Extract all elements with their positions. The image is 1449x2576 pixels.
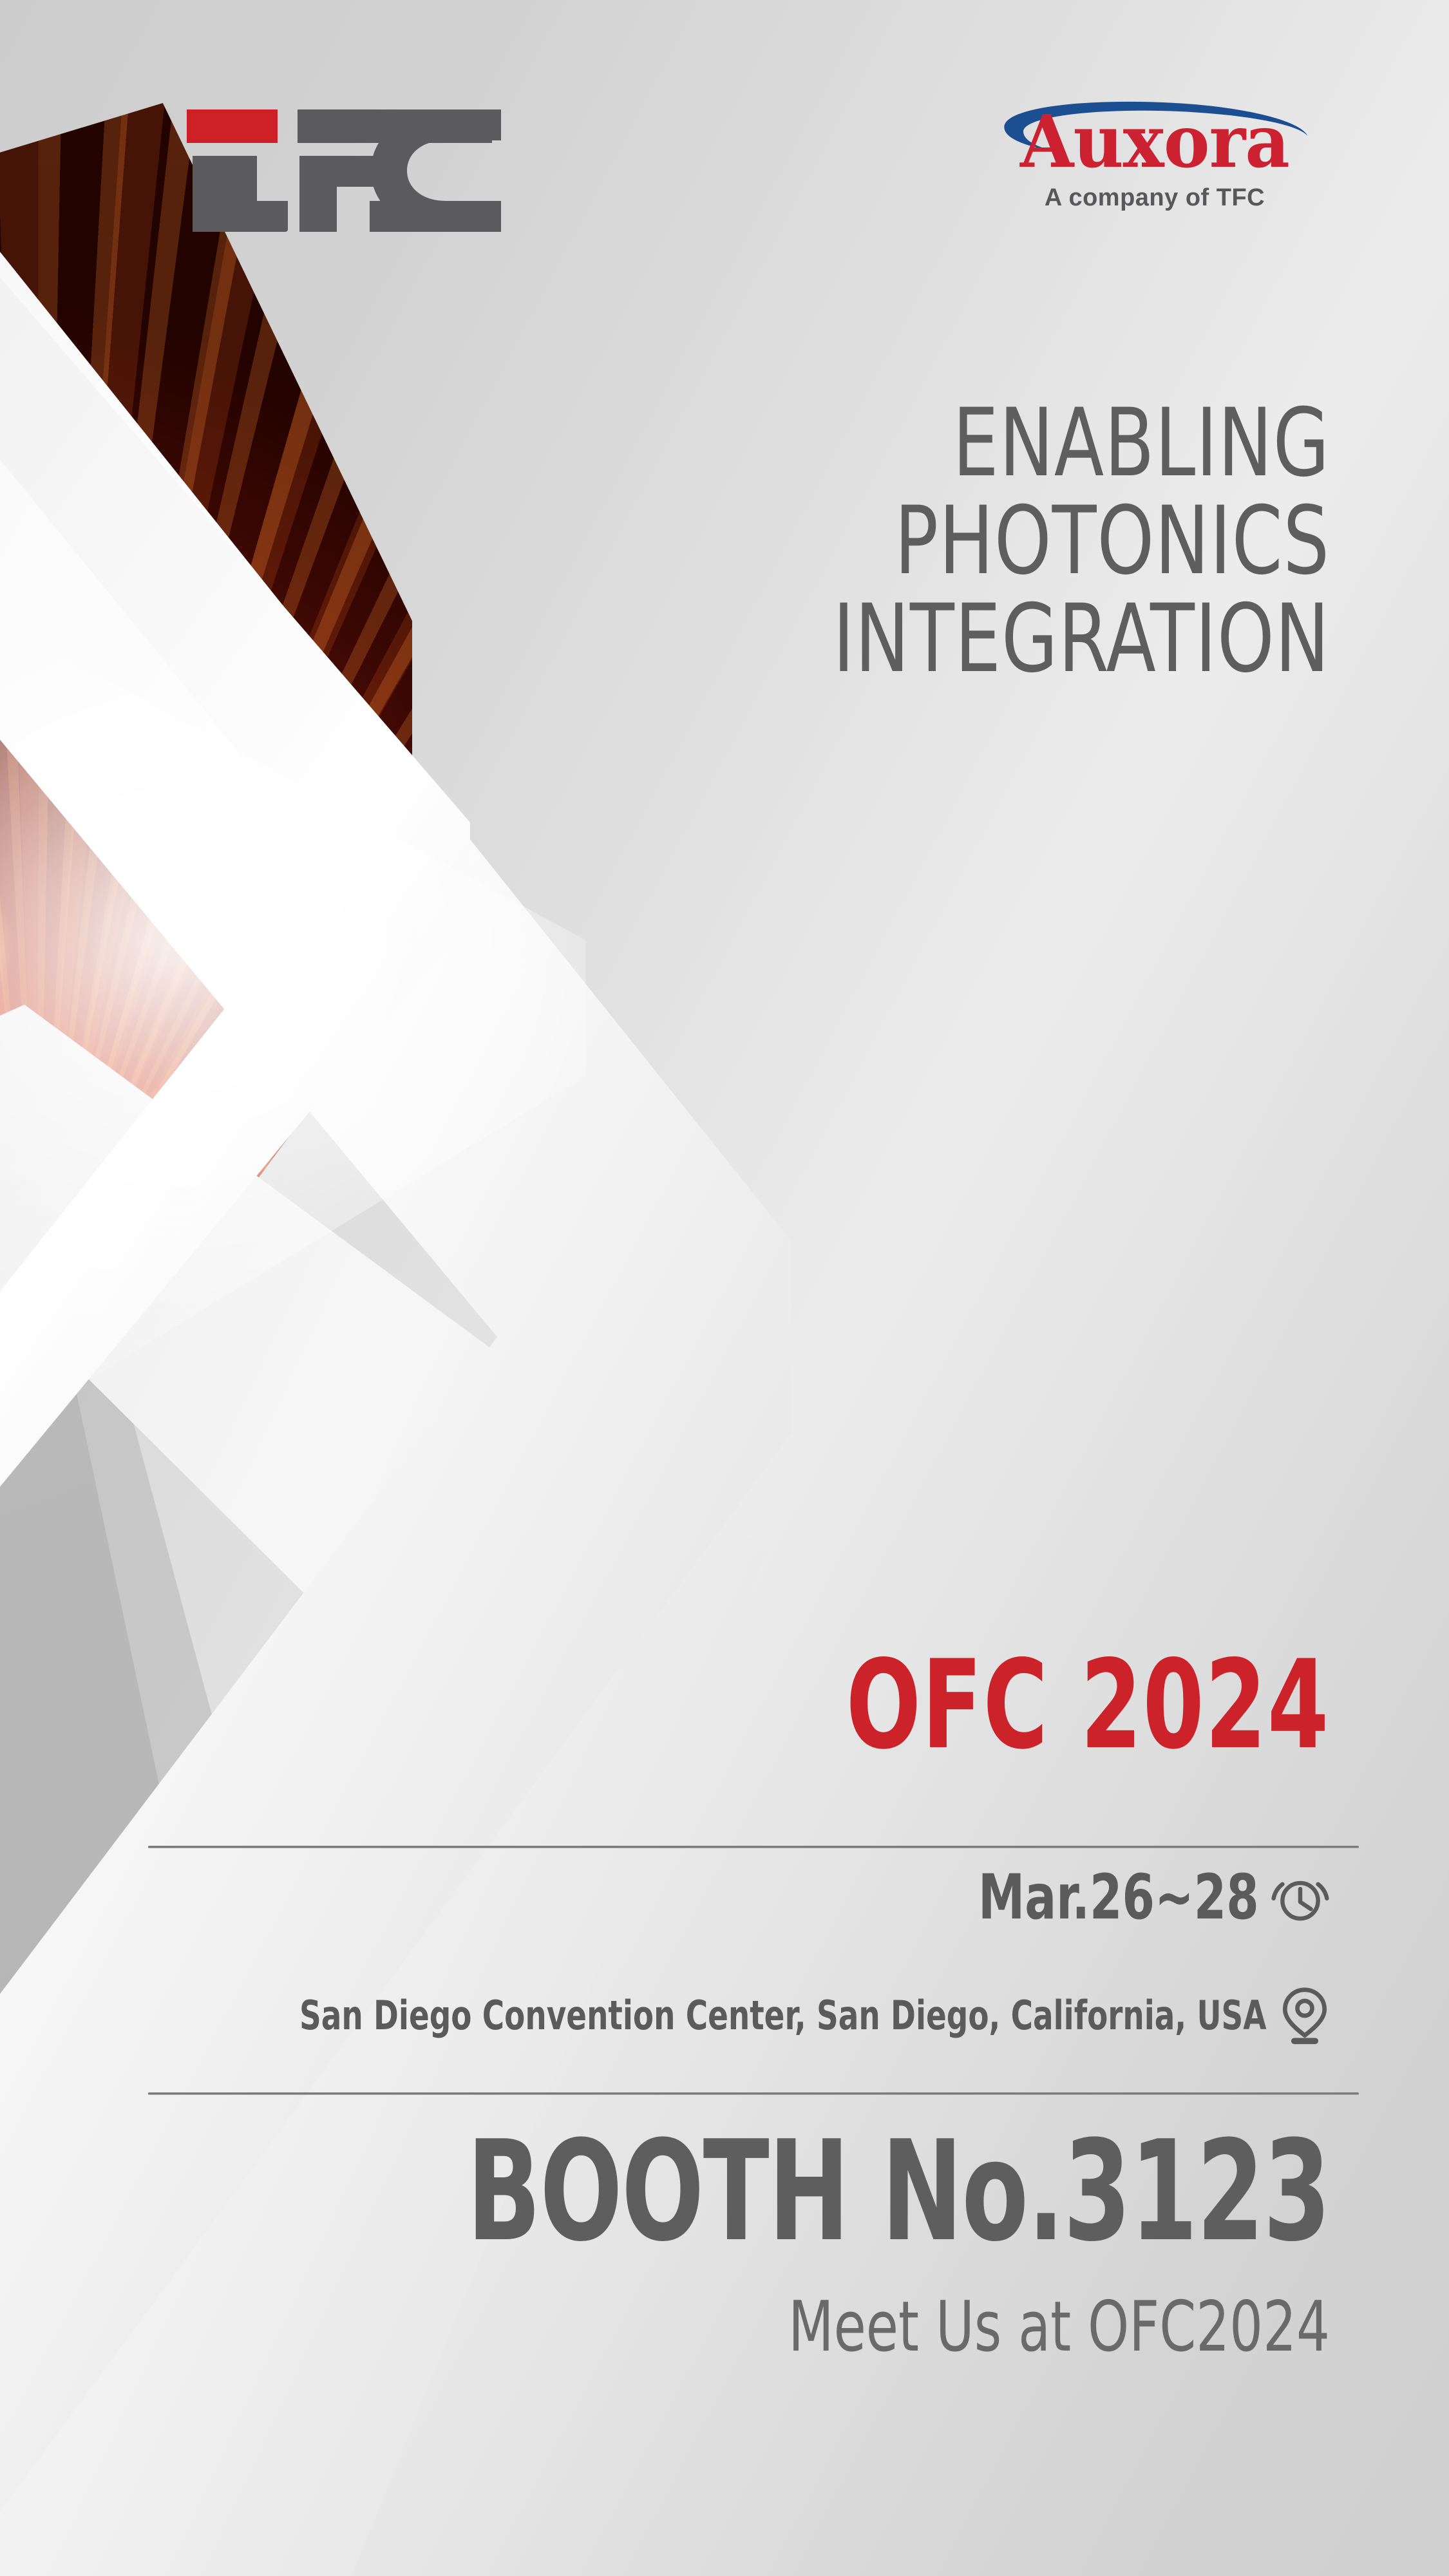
headline-line-2: PHOTONICS [416, 492, 1330, 590]
event-date-row: Mar.26~28 [925, 1864, 1330, 1931]
divider-top [148, 1846, 1359, 1848]
event-venue: San Diego Convention Center, San Diego, … [299, 1993, 1267, 2038]
divider-bottom [148, 2092, 1359, 2095]
tfc-logo [187, 109, 489, 225]
event-venue-row: San Diego Convention Center, San Diego, … [115, 1986, 1330, 2045]
alarm-clock-icon [1271, 1868, 1330, 1927]
auxora-wordmark: Auxora [978, 104, 1331, 180]
event-name: OFC 2024 [846, 1641, 1330, 1770]
event-date: Mar.26~28 [978, 1864, 1259, 1931]
location-pin-icon [1280, 1986, 1330, 2045]
tfc-logo-c-curve [348, 109, 502, 232]
meet-us-tagline: Meet Us at OFC2024 [788, 2289, 1330, 2365]
headline: ENABLING PHOTONICS INTEGRATION [416, 394, 1330, 688]
tfc-logo-l-foot [193, 201, 288, 232]
tfc-logo-red-bar [187, 109, 278, 143]
ofc-2024-promo-poster: Auxora A company of TFC ENABLING PHOTONI… [0, 0, 1449, 2576]
auxora-logo: Auxora A company of TFC [971, 95, 1338, 211]
booth-number: BOOTH No.3123 [467, 2119, 1330, 2264]
auxora-tagline: A company of TFC [971, 184, 1338, 212]
headline-line-1: ENABLING [416, 394, 1330, 492]
headline-line-3: INTEGRATION [416, 590, 1330, 688]
